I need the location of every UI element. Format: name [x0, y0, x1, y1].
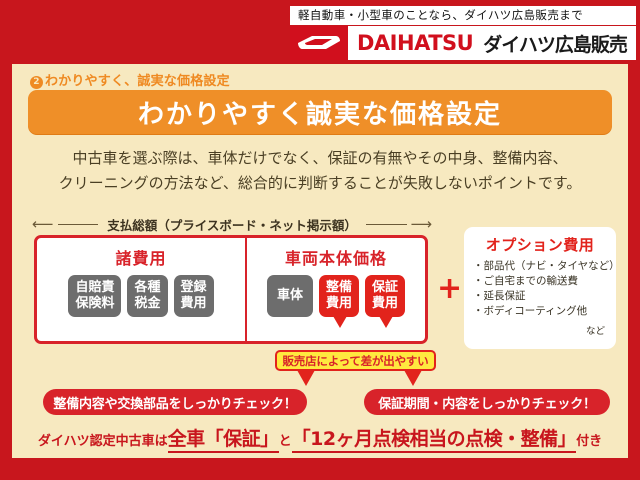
bar-line-left — [58, 224, 99, 225]
brand-names: DAIHATSU ダイハツ広島販売 — [348, 26, 636, 60]
chip-line-2: 費用 — [372, 296, 398, 312]
list-item: ・ご自宅までの輸送費 — [473, 274, 607, 289]
chip-line-2: 保険料 — [75, 296, 114, 312]
banner-title: わかりやすく誠実な価格設定 — [138, 94, 502, 131]
option-fees-title: オプション費用 — [473, 234, 607, 255]
chip-line-2: 費用 — [326, 296, 352, 312]
misc-fees-title: 諸費用 — [115, 245, 166, 269]
callout-tail-right-icon — [404, 370, 422, 386]
arrow-right-icon: ⟶ — [411, 217, 433, 232]
step-label: 2わかりやすく、誠実な価格設定 — [30, 70, 230, 89]
vehicle-price-column: 車両本体価格 車体 整備 費用 保証 費用 — [247, 238, 425, 341]
chip-line-2: 費用 — [181, 296, 207, 312]
list-item: ・ボディコーティング他 — [473, 304, 607, 319]
dealer-logo-block: 軽自動車・小型車のことなら、ダイハツ広島販売まで DAIHATSU ダイハツ広島… — [290, 6, 636, 60]
step-number-badge: 2 — [30, 76, 43, 89]
option-fees-note: など — [473, 323, 607, 337]
callout-tail-left-icon — [297, 370, 315, 386]
brand-logo-row: DAIHATSU ダイハツ広島販売 — [290, 26, 636, 60]
chip-taxes: 各種 税金 — [127, 275, 167, 317]
bottom-red-strip — [0, 458, 640, 480]
arrow-left-icon: ⟵ — [32, 217, 54, 232]
option-fees-list: ・部品代（ナビ・タイヤなど） ・ご自宅までの輸送費 ・延長保証 ・ボディコーティ… — [473, 259, 607, 319]
page-header: 軽自動車・小型車のことなら、ダイハツ広島販売まで DAIHATSU ダイハツ広島… — [0, 0, 640, 64]
chip-line-1: 整備 — [326, 280, 352, 296]
list-item: ・部品代（ナビ・タイヤなど） — [473, 259, 607, 274]
footer-part-2: 全車「保証」 — [168, 428, 279, 453]
chip-warranty-cost: 保証 費用 — [365, 275, 405, 317]
chip-compulsory-insurance: 自賠責 保険料 — [68, 275, 121, 317]
list-item: ・延長保証 — [473, 289, 607, 304]
infographic-page: 軽自動車・小型車のことなら、ダイハツ広島販売まで DAIHATSU ダイハツ広島… — [0, 0, 640, 480]
total-amount-label: 支払総額（プライスボード・ネット掲示額） — [102, 215, 362, 234]
brand-latin-text: DAIHATSU — [357, 31, 473, 55]
lede-line-1: 中古車を選ぶ際は、車体だけでなく、保証の有無やその中身、整備内容、 — [22, 146, 618, 171]
plus-icon: + — [437, 278, 459, 300]
dealer-difference-callout: 販売店によって差が出やすい — [275, 350, 436, 371]
content-card: 2わかりやすく、誠実な価格設定 わかりやすく誠実な価格設定 中古車を選ぶ際は、車… — [12, 64, 628, 458]
chip-line-1: 登録 — [181, 280, 207, 296]
option-fees-box: オプション費用 ・部品代（ナビ・タイヤなど） ・ご自宅までの輸送費 ・延長保証 … — [464, 227, 616, 349]
footer-part-1: ダイハツ認定中古車は — [38, 434, 168, 449]
vehicle-price-chips: 車体 整備 費用 保証 費用 — [267, 275, 405, 317]
misc-fees-chips: 自賠責 保険料 各種 税金 登録 費用 — [68, 275, 213, 317]
chip-line-1: 自賠責 — [75, 280, 114, 296]
vehicle-price-title: 車両本体価格 — [285, 245, 387, 269]
chip-maintenance-cost: 整備 費用 — [319, 275, 359, 317]
check-maintenance-pill: 整備内容や交換部品をしっかりチェック！ — [43, 389, 307, 415]
footer-part-3: と — [279, 434, 292, 449]
bar-line-right — [366, 224, 407, 225]
callout-text: 販売店によって差が出やすい — [283, 353, 429, 369]
pill-text-right: 保証期間・内容をしっかりチェック！ — [378, 393, 596, 412]
chip-tail-icon — [333, 316, 347, 328]
step-label-text: わかりやすく、誠実な価格設定 — [45, 74, 230, 89]
daihatsu-d-mark-icon — [290, 26, 348, 60]
footer-part-5: 付き — [576, 434, 602, 449]
check-warranty-pill: 保証期間・内容をしっかりチェック！ — [364, 389, 610, 415]
pill-text-left: 整備内容や交換部品をしっかりチェック！ — [53, 393, 296, 412]
header-tagline: 軽自動車・小型車のことなら、ダイハツ広島販売まで — [290, 6, 636, 25]
footer-part-4: 「12ヶ月点検相当の点検・整備」 — [292, 428, 576, 453]
lede-paragraph: 中古車を選ぶ際は、車体だけでなく、保証の有無やその中身、整備内容、 クリーニング… — [22, 146, 618, 196]
section-banner: わかりやすく誠実な価格設定 — [28, 90, 612, 134]
chip-tail-icon — [379, 316, 393, 328]
certified-used-car-footer: ダイハツ認定中古車は全車「保証」と「12ヶ月点検相当の点検・整備」付き — [12, 424, 628, 451]
chip-line-1: 各種 — [134, 280, 160, 296]
chip-registration-fee: 登録 費用 — [174, 275, 214, 317]
chip-line-1: 車体 — [277, 288, 303, 304]
lede-line-2: クリーニングの方法など、総合的に判断することが失敗しないポイントです。 — [22, 171, 618, 196]
chip-vehicle-body: 車体 — [267, 275, 313, 317]
brand-jp-text: ダイハツ広島販売 — [483, 30, 627, 57]
chip-line-2: 税金 — [134, 296, 160, 312]
chip-line-1: 保証 — [372, 280, 398, 296]
misc-fees-column: 諸費用 自賠責 保険料 各種 税金 登録 費用 — [37, 238, 247, 341]
price-breakdown-box: 諸費用 自賠責 保険料 各種 税金 登録 費用 — [34, 235, 428, 344]
total-amount-bar: ⟵ 支払総額（プライスボード・ネット掲示額） ⟶ — [32, 214, 432, 234]
